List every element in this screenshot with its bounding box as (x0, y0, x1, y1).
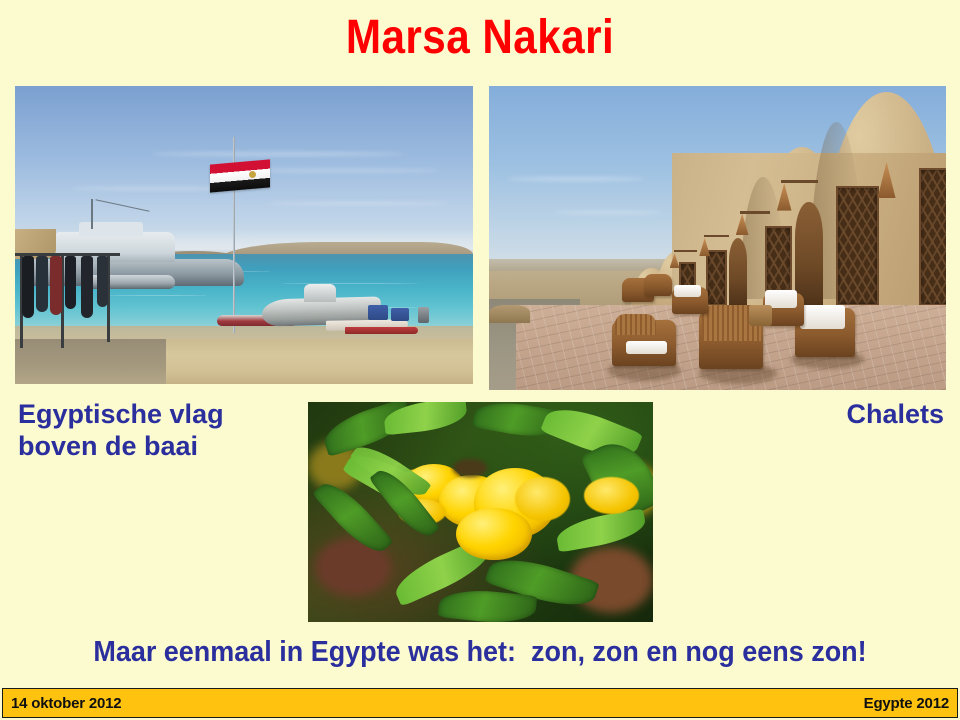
footer-bar: 14 oktober 2012 Egypte 2012 (2, 688, 958, 718)
flower-petal (584, 477, 639, 514)
blue-crate (368, 305, 389, 320)
flower-petal (515, 477, 570, 521)
lamp-arm (781, 180, 818, 183)
footer-date: 14 oktober 2012 (11, 695, 121, 712)
footer-label: Egypte 2012 (864, 695, 949, 712)
caption-right: Chalets (846, 398, 944, 430)
wetsuit (65, 256, 76, 310)
wicker-chair (644, 274, 671, 295)
beached-boat-cabin (304, 284, 336, 302)
chalet-door (729, 238, 747, 305)
chair-cushion (800, 305, 846, 329)
photo-flower (308, 402, 653, 622)
cloud-streak-icon (152, 152, 404, 156)
boat-mast (91, 199, 93, 229)
wetsuit (97, 256, 108, 307)
dive-boat-upper-deck (79, 222, 143, 237)
lamp-arm (704, 235, 729, 237)
slide-canvas: Marsa Nakari (0, 0, 960, 720)
lattice-window (836, 186, 879, 306)
flower-petal (456, 508, 532, 561)
chalet-door (795, 202, 822, 305)
flower-bud (453, 459, 488, 477)
wetsuit (50, 256, 62, 316)
wetsuit (36, 256, 48, 313)
gravel-layer (15, 339, 166, 384)
lamp-arm (674, 250, 697, 252)
wetsuit (81, 256, 93, 319)
photo-chalets (489, 86, 946, 390)
wavelet (281, 283, 418, 284)
wetsuit (22, 256, 34, 319)
wavelet (107, 295, 208, 296)
caption-bottom: Maar eenmaal in Egypte was het: zon, zon… (34, 636, 927, 669)
eagle-of-saladin-icon (249, 171, 256, 178)
page-title: Marsa Nakari (58, 8, 903, 68)
chair-cushion (626, 341, 667, 353)
lattice-window (706, 250, 726, 306)
dive-tank (418, 307, 429, 323)
photo-flag-bay (15, 86, 473, 384)
caption-left: Egyptische vlag boven de baai (18, 398, 224, 462)
side-table (749, 305, 772, 326)
chair-cushion (674, 285, 701, 297)
blue-crate (391, 308, 409, 321)
lattice-window (919, 168, 946, 306)
lamp-arm (740, 211, 770, 214)
cloud-streak-icon (553, 211, 663, 214)
stone-planter (489, 305, 530, 323)
red-board (345, 327, 418, 334)
egyptian-flag-icon (210, 159, 270, 193)
chair-backrest (615, 314, 656, 335)
